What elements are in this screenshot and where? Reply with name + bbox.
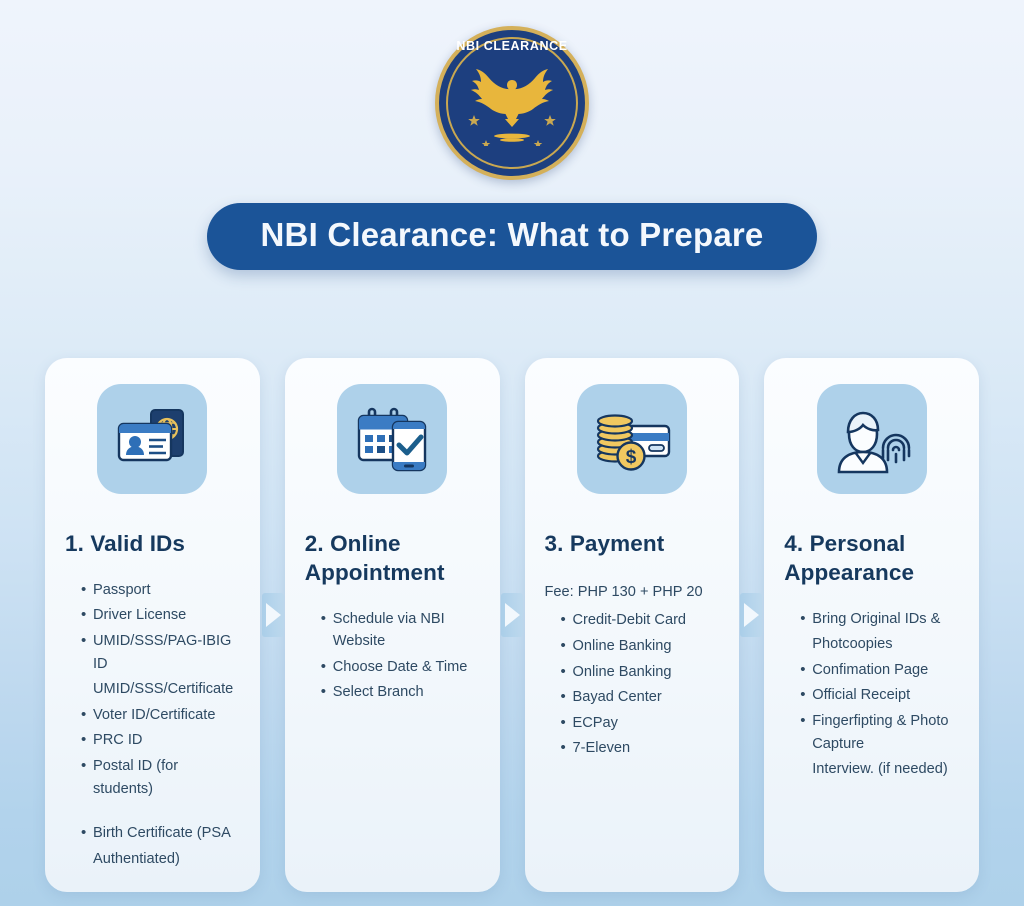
card-list-1: Passport Driver License UMID/SSS/PAG-IBI… xyxy=(65,579,240,871)
card-title-2: 2. Online Appointment xyxy=(305,530,480,588)
list-item: Passport xyxy=(81,579,240,602)
list-item: Postal ID (for students) xyxy=(81,755,240,800)
person-fingerprint-icon xyxy=(833,404,911,474)
list-item-continuation: UMID/SSS/Certificate xyxy=(81,678,240,701)
eagle-icon xyxy=(464,60,560,146)
list-item: Online Banking xyxy=(561,661,720,684)
card-title-1: 1. Valid IDs xyxy=(65,530,240,559)
list-item: Schedule via NBI Website xyxy=(321,608,480,653)
chevron-right-icon xyxy=(744,603,759,627)
step-card-valid-ids: 1. Valid IDs Passport Driver License UMI… xyxy=(45,358,260,892)
icon-tile-2 xyxy=(337,384,447,494)
list-item-continuation: Authentiated) xyxy=(81,848,240,871)
list-item: Fingerfipting & Photo Capture xyxy=(800,710,959,755)
list-item: PRC ID xyxy=(81,729,240,752)
step-card-payment: $ 3. Payment Fee: PHP 130 + PHP 20 Credi… xyxy=(525,358,740,892)
list-item: Official Receipt xyxy=(800,684,959,707)
arrow-step-1-to-2 xyxy=(262,593,284,637)
page-title: NBI Clearance: What to Prepare xyxy=(261,217,764,253)
card-title-3: 3. Payment xyxy=(545,530,720,559)
title-banner-area: NBI Clearance: What to Prepare xyxy=(0,203,1024,270)
arrow-step-2-to-3 xyxy=(501,593,523,637)
id-card-passport-icon xyxy=(113,404,191,474)
chevron-right-icon xyxy=(505,603,520,627)
svg-text:$: $ xyxy=(626,447,637,468)
infographic-page: NBI CLEARANCE xyxy=(0,0,1024,906)
card-list-4: Bring Original IDs & Photcoopies Confima… xyxy=(784,608,959,781)
list-item-continuation: Photcoopies xyxy=(800,633,959,656)
list-item: Choose Date & Time xyxy=(321,656,480,679)
list-item: Credit-Debit Card xyxy=(561,609,720,632)
arrow-step-3-to-4 xyxy=(740,593,762,637)
list-item: Voter ID/Certificate xyxy=(81,704,240,727)
coins-credit-card-icon: $ xyxy=(593,404,671,474)
list-item: Birth Certificate (PSA xyxy=(81,822,240,845)
nbi-clearance-seal: NBI CLEARANCE xyxy=(435,26,589,180)
list-item: 7-Eleven xyxy=(561,737,720,760)
list-item: Bring Original IDs & xyxy=(800,608,959,631)
icon-tile-1 xyxy=(97,384,207,494)
list-item: Bayad Center xyxy=(561,686,720,709)
chevron-right-icon xyxy=(266,603,281,627)
list-item: ECPay xyxy=(561,712,720,735)
icon-tile-3: $ xyxy=(577,384,687,494)
card-title-4: 4. Personal Appearance xyxy=(784,530,959,588)
list-item-continuation: Interview. (if needed) xyxy=(800,758,959,781)
list-item: Select Branch xyxy=(321,681,480,704)
logo-area: NBI CLEARANCE xyxy=(0,26,1024,180)
list-item: UMID/SSS/PAG-IBIG ID xyxy=(81,630,240,675)
step-card-online-appointment: 2. Online Appointment Schedule via NBI W… xyxy=(285,358,500,892)
list-item: Online Banking xyxy=(561,635,720,658)
step-card-personal-appearance: 4. Personal Appearance Bring Original ID… xyxy=(764,358,979,892)
calendar-phone-check-icon xyxy=(353,404,431,474)
title-banner: NBI Clearance: What to Prepare xyxy=(207,203,818,270)
list-item: Driver License xyxy=(81,604,240,627)
card-list-2: Schedule via NBI Website Choose Date & T… xyxy=(305,608,480,704)
list-item: Confimation Page xyxy=(800,659,959,682)
card-list-3: Credit-Debit Card Online Banking Online … xyxy=(545,609,720,760)
seal-label: NBI CLEARANCE xyxy=(439,39,585,53)
icon-tile-4 xyxy=(817,384,927,494)
payment-fee-note: Fee: PHP 130 + PHP 20 xyxy=(545,581,720,604)
